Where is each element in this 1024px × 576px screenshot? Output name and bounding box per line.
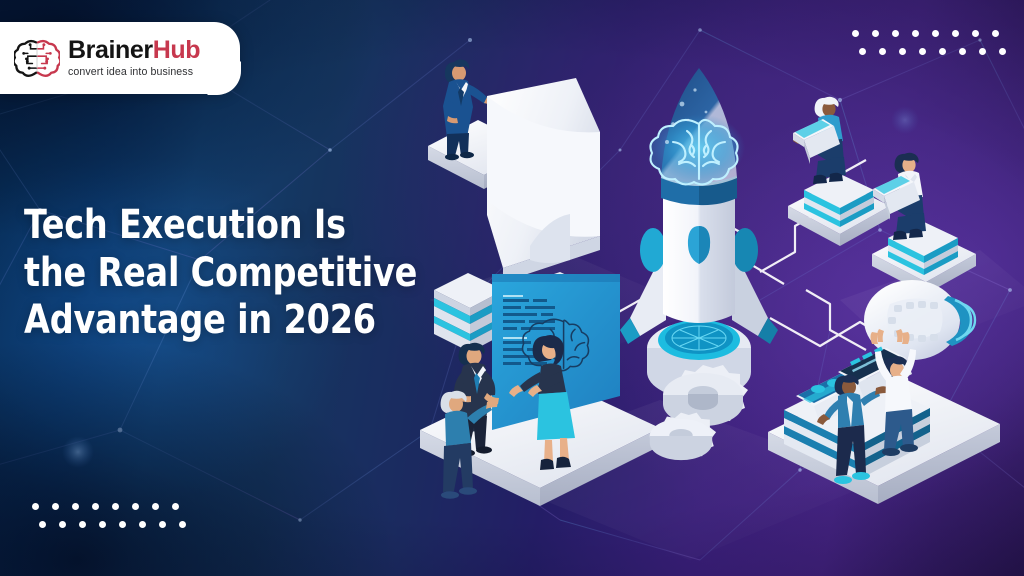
headline-line-1: Tech Execution Is <box>24 202 415 250</box>
brain-rocket <box>620 68 778 399</box>
logo-word-accent: Hub <box>153 36 200 64</box>
developer-lower <box>872 153 976 294</box>
brain-circuit-icon <box>14 35 60 81</box>
headline-line-2: the Real Competitive <box>24 250 415 298</box>
headline-line-3: Advantage in 2026 <box>24 297 415 345</box>
logo-wordmark: BrainerHub <box>68 38 200 63</box>
logo-panel[interactable]: BrainerHub convert idea into business <box>0 22 240 94</box>
dot-grid-bottom-left <box>32 503 186 528</box>
developer-upper <box>788 97 890 246</box>
dot-grid-top-right <box>852 30 1006 55</box>
logo-text: BrainerHub convert idea into business <box>68 38 200 78</box>
headline: Tech Execution Is the Real Competitive A… <box>24 202 444 345</box>
blog-banner: Tech Execution Is the Real Competitive A… <box>0 0 1024 576</box>
logo-word-primary: Brainer <box>68 36 153 64</box>
logo-tagline: convert idea into business <box>68 67 200 78</box>
